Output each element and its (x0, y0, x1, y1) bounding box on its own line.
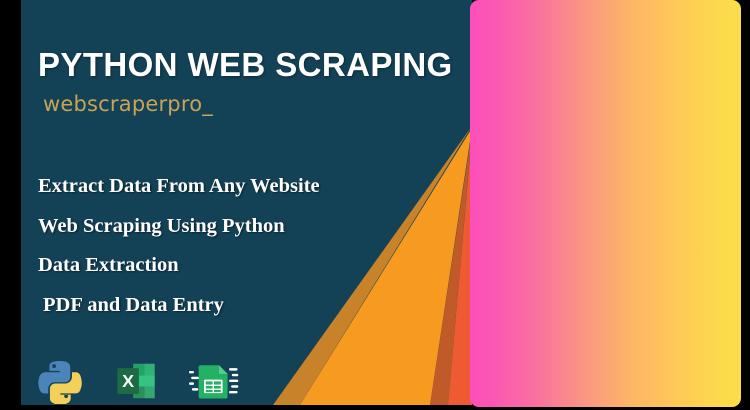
banner-canvas: PYTHON WEB SCRAPING webscraperpro_ Extra… (0, 0, 750, 410)
sheets-grid (204, 380, 223, 394)
excel-icon: X (113, 358, 159, 404)
excel-panel-right (145, 364, 155, 399)
google-sheets-icon (189, 358, 239, 404)
feature-list: Extract Data From Any Website Web Scrapi… (38, 176, 320, 316)
right-gradient-panel (470, 0, 741, 407)
list-item: Web Scraping Using Python (38, 216, 320, 237)
motion-lines-left (189, 371, 199, 391)
ray-brown (430, 131, 472, 405)
python-icon (37, 358, 83, 404)
excel-letter: X (122, 371, 134, 391)
handle-text: webscraperpro_ (43, 91, 453, 117)
list-item: Extract Data From Any Website (38, 176, 320, 197)
list-item: PDF and Data Entry (38, 295, 320, 316)
title-block: PYTHON WEB SCRAPING webscraperpro_ (38, 46, 453, 117)
ray-red (448, 133, 472, 405)
sheets-fold (219, 365, 228, 374)
list-item: Data Extraction (38, 255, 320, 276)
left-dark-panel: PYTHON WEB SCRAPING webscraperpro_ Extra… (21, 0, 472, 405)
page-title: PYTHON WEB SCRAPING (38, 46, 453, 84)
technology-icon-row: X (37, 358, 239, 404)
motion-lines-right (229, 368, 238, 393)
ray-orange (300, 128, 472, 405)
